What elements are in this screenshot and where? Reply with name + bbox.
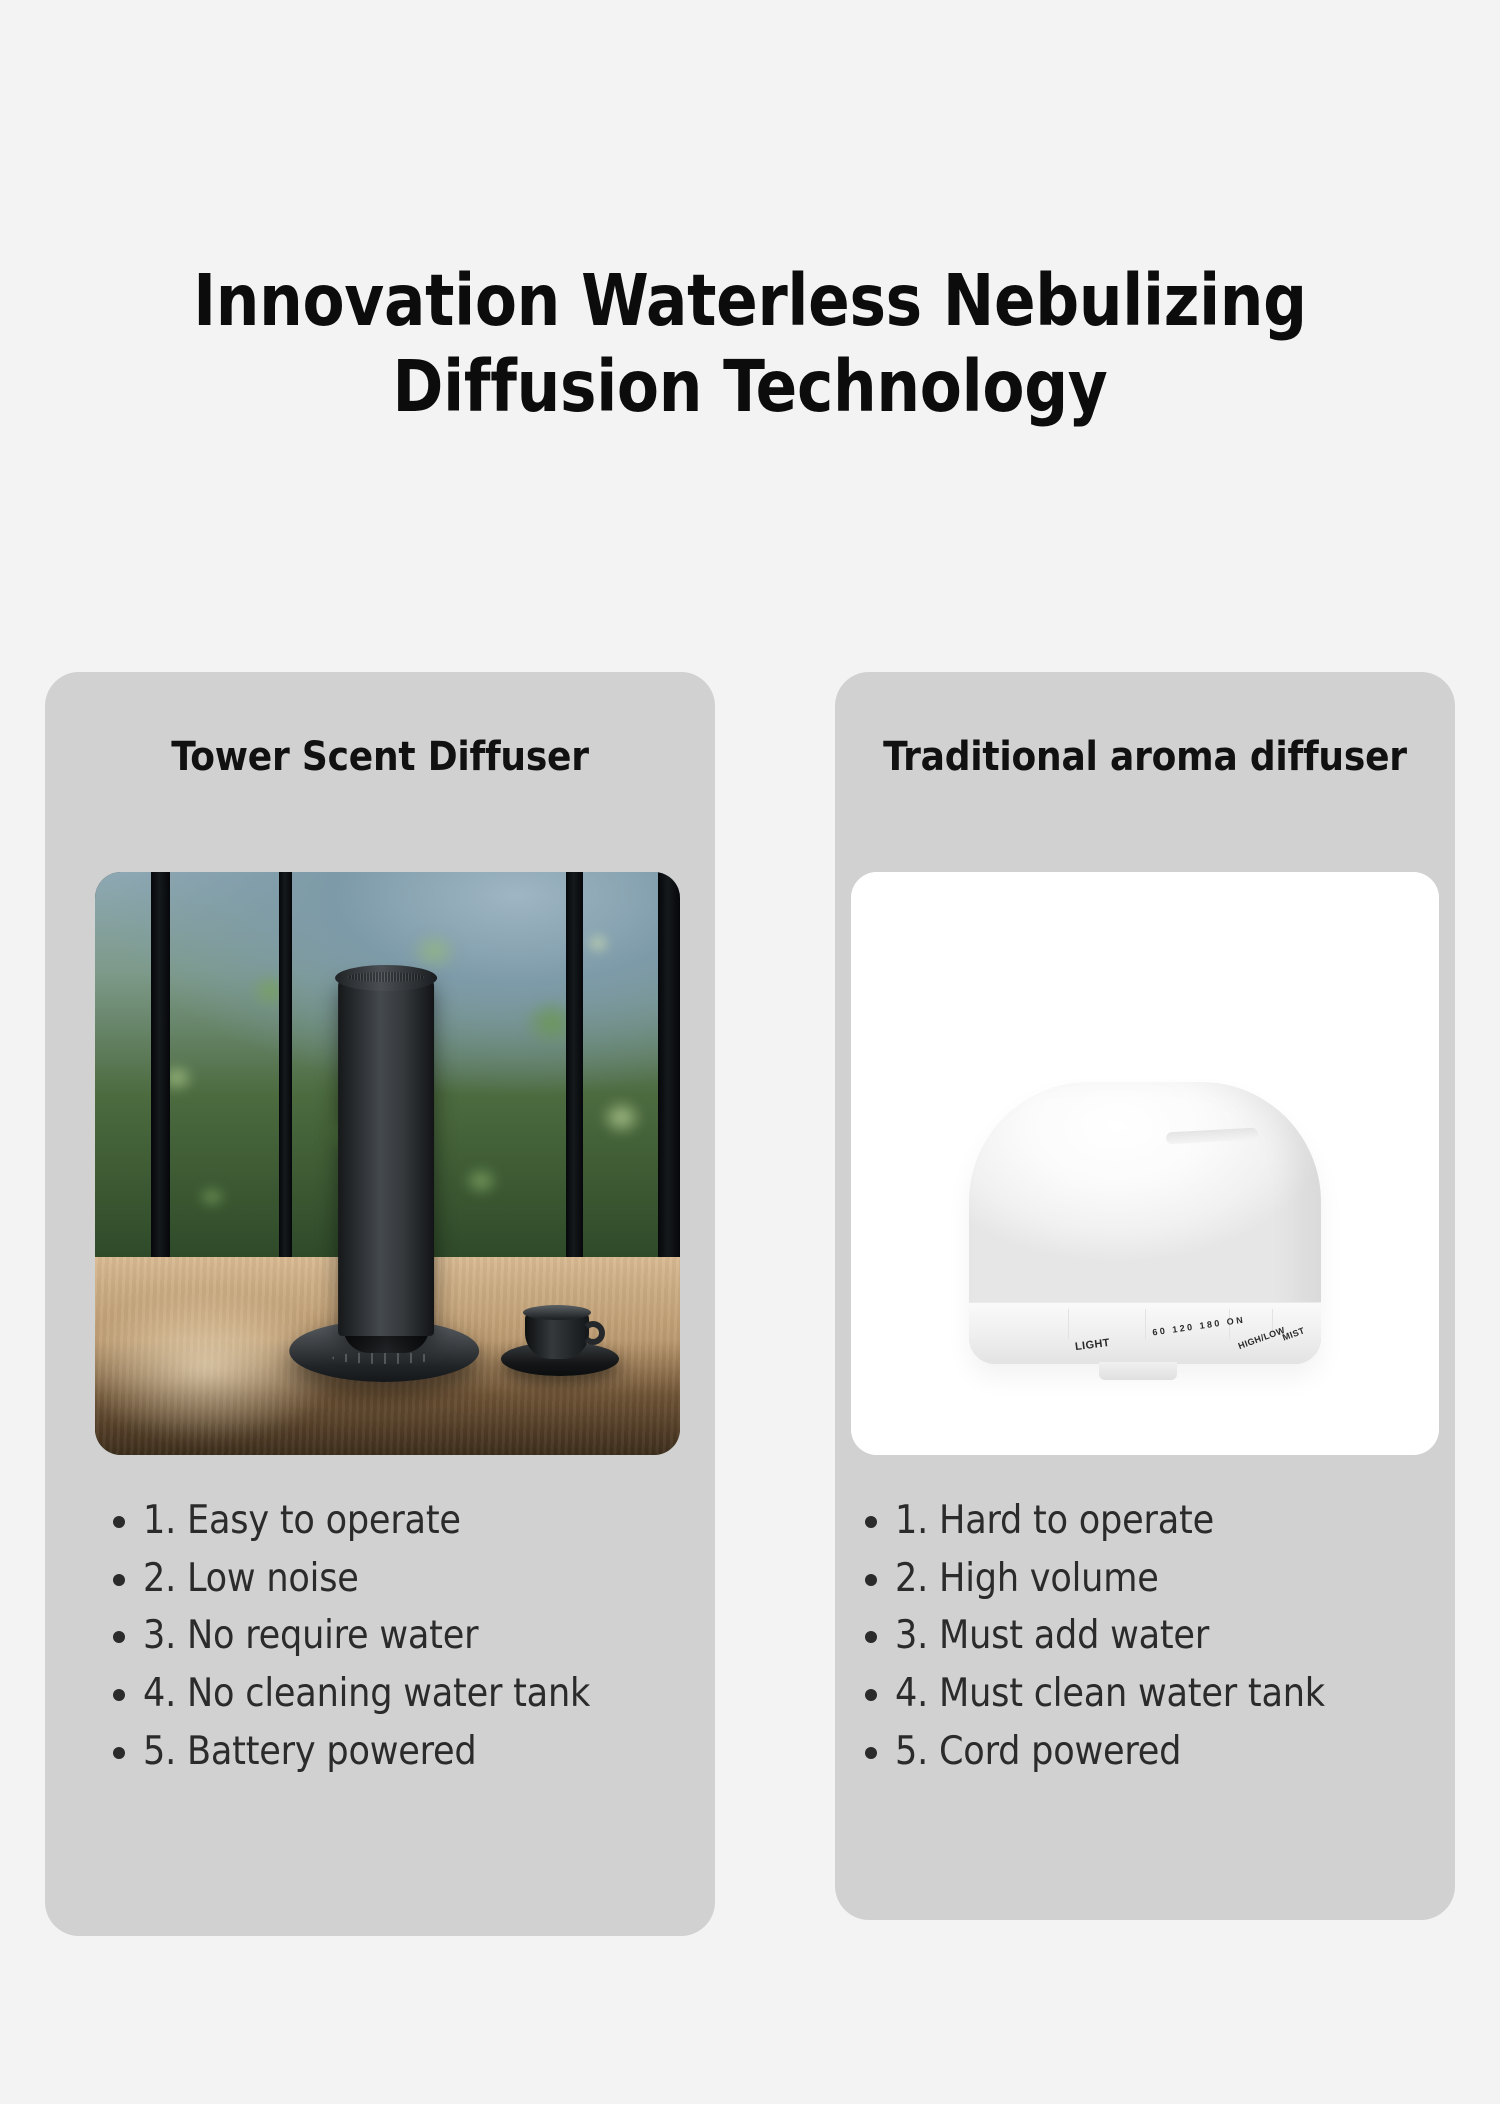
product-photo-traditional: LIGHT 60 120 180 ON HIGH/LOW MIST	[851, 872, 1439, 1455]
cup-rim	[523, 1305, 591, 1320]
list-item-label: Easy to operate	[187, 1498, 461, 1543]
list-item-number: 4.	[143, 1665, 187, 1723]
traditional-diffuser-body: LIGHT 60 120 180 ON HIGH/LOW MIST	[969, 1082, 1321, 1364]
espresso-cup	[525, 1311, 589, 1359]
list-item-label: Hard to operate	[939, 1498, 1214, 1543]
tower-diffuser-body	[338, 976, 434, 1336]
card-title-tower: Tower Scent Diffuser	[45, 734, 715, 780]
light-button-label[interactable]: LIGHT	[1074, 1337, 1110, 1353]
card-traditional-aroma-diffuser: Traditional aroma diffuser LIGHT 60 120 …	[835, 672, 1455, 1920]
cup-handle	[581, 1321, 605, 1345]
window-frame-bar	[658, 872, 680, 1268]
product-photo-tower	[95, 872, 680, 1455]
button-seam	[1068, 1309, 1069, 1339]
timer-scale-label[interactable]: 60 120 180 ON	[1152, 1314, 1246, 1337]
list-item-number: 1.	[143, 1492, 187, 1550]
window-frame-bar	[566, 872, 584, 1268]
list-item-label: No require water	[187, 1613, 478, 1658]
window-frame-bar	[279, 872, 291, 1268]
list-item-label: Must clean water tank	[939, 1671, 1325, 1716]
lifestyle-scene	[95, 872, 680, 1455]
comparison-cards: Tower Scent Diffuser	[45, 672, 1455, 1940]
list-item: 2.High volume	[895, 1550, 1325, 1608]
list-item-number: 5.	[895, 1723, 939, 1781]
list-item: 1.Easy to operate	[143, 1492, 590, 1550]
list-item-number: 3.	[143, 1607, 187, 1665]
card-tower-scent-diffuser: Tower Scent Diffuser	[45, 672, 715, 1936]
list-item-number: 2.	[143, 1550, 187, 1608]
window-frame-bar	[151, 872, 171, 1268]
list-item: 3.No require water	[143, 1607, 590, 1665]
list-item: 3.Must add water	[895, 1607, 1325, 1665]
diffuser-foot	[1099, 1362, 1177, 1380]
list-item: 2.Low noise	[143, 1550, 590, 1608]
list-item-number: 4.	[895, 1665, 939, 1723]
list-item-number: 2.	[895, 1550, 939, 1608]
tower-vent-grill	[348, 972, 424, 982]
list-item: 4.Must clean water tank	[895, 1665, 1325, 1723]
button-seam	[1145, 1309, 1146, 1339]
list-item: 4.No cleaning water tank	[143, 1665, 590, 1723]
list-item-label: High volume	[939, 1556, 1159, 1601]
base-control-ring	[332, 1352, 436, 1364]
list-item: 5.Battery powered	[143, 1723, 590, 1781]
list-item-label: No cleaning water tank	[187, 1671, 590, 1716]
feature-list-traditional: 1.Hard to operate 2.High volume 3.Must a…	[895, 1492, 1325, 1781]
high-low-button-label[interactable]: HIGH/LOW	[1236, 1324, 1286, 1350]
mist-outlet-vent	[1166, 1127, 1259, 1144]
mist-button-label[interactable]: MIST	[1281, 1325, 1306, 1342]
feature-list-tower: 1.Easy to operate 2.Low noise 3.No requi…	[143, 1492, 590, 1781]
list-item-number: 3.	[895, 1607, 939, 1665]
list-item-number: 5.	[143, 1723, 187, 1781]
product-cutout-scene: LIGHT 60 120 180 ON HIGH/LOW MIST	[851, 872, 1439, 1455]
page-title: Innovation Waterless Nebulizing Diffusio…	[30, 258, 1470, 430]
list-item-label: Cord powered	[939, 1729, 1181, 1774]
list-item-label: Battery powered	[187, 1729, 476, 1774]
list-item-label: Low noise	[187, 1556, 359, 1601]
list-item: 1.Hard to operate	[895, 1492, 1325, 1550]
list-item: 5.Cord powered	[895, 1723, 1325, 1781]
page-title-line-2: Diffusion Technology	[30, 344, 1470, 430]
control-panel: LIGHT 60 120 180 ON HIGH/LOW MIST	[969, 1307, 1321, 1353]
list-item-number: 1.	[895, 1492, 939, 1550]
list-item-label: Must add water	[939, 1613, 1209, 1658]
page-title-line-1: Innovation Waterless Nebulizing	[30, 258, 1470, 344]
card-title-traditional: Traditional aroma diffuser	[815, 734, 1475, 780]
